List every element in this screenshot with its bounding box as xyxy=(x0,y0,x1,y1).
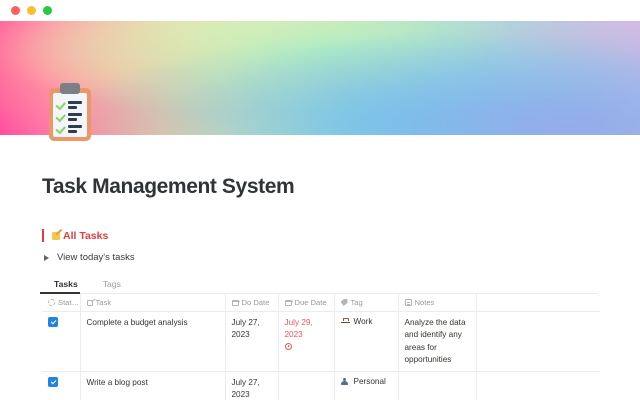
tab-tasks-label: Tasks xyxy=(54,279,78,289)
column-header-task[interactable]: Task xyxy=(80,294,225,312)
page-title[interactable]: Task Management System xyxy=(42,175,598,199)
view-tabs: Tasks Tags xyxy=(42,276,598,294)
notes-icon xyxy=(405,299,412,306)
section-heading: All Tasks xyxy=(42,229,598,242)
row-checkbox[interactable] xyxy=(48,317,58,327)
table-row[interactable]: Complete a budget analysis July 27, 2023… xyxy=(42,312,600,372)
table-row[interactable]: Write a blog post July 27, 2023 Personal xyxy=(42,372,600,400)
tab-tags-label: Tags xyxy=(103,279,121,289)
page-cover-banner[interactable] xyxy=(0,21,640,135)
column-header-due-date-label: Due Date xyxy=(295,298,327,307)
column-header-due-date[interactable]: Due Date xyxy=(278,294,334,312)
calendar-icon xyxy=(232,300,239,307)
app-window: Task Management System All Tasks View to… xyxy=(0,0,640,400)
person-icon xyxy=(341,378,350,386)
cell-do-date[interactable]: July 27, 2023 xyxy=(225,372,278,400)
cell-notes[interactable] xyxy=(398,372,476,400)
cell-task[interactable]: Complete a budget analysis xyxy=(80,312,225,372)
maximize-window-button[interactable] xyxy=(43,6,52,15)
column-header-notes[interactable]: Notes xyxy=(398,294,476,312)
table-header-row: Stat… Task Do Date Due Date xyxy=(42,294,600,312)
column-header-task-label: Task xyxy=(96,298,112,307)
cell-due-date[interactable]: July 29, 2023 xyxy=(278,312,334,372)
cell-task[interactable]: Write a blog post xyxy=(80,372,225,400)
column-header-tag-label: Tag xyxy=(351,298,363,307)
cell-tag[interactable]: Work xyxy=(334,312,398,372)
tasks-table: Stat… Task Do Date Due Date xyxy=(42,294,600,400)
column-header-notes-label: Notes xyxy=(415,298,435,307)
column-header-tag[interactable]: Tag xyxy=(334,294,398,312)
tab-tags[interactable]: Tags xyxy=(91,279,121,293)
window-titlebar xyxy=(0,0,640,21)
briefcase-icon xyxy=(341,318,350,326)
alarm-clock-icon xyxy=(285,343,292,350)
tag-icon xyxy=(91,280,99,289)
calendar-icon xyxy=(285,300,292,307)
spinner-icon xyxy=(48,299,55,306)
table-body: Complete a budget analysis July 27, 2023… xyxy=(42,312,600,400)
cell-do-date[interactable]: July 27, 2023 xyxy=(225,312,278,372)
red-accent-bar xyxy=(42,229,44,242)
cell-status[interactable] xyxy=(42,372,80,400)
tag-icon xyxy=(341,299,348,306)
row-checkbox[interactable] xyxy=(48,377,58,387)
cell-empty[interactable] xyxy=(476,312,600,372)
tag-label: Work xyxy=(354,317,373,326)
document-icon xyxy=(42,280,50,289)
cell-status[interactable] xyxy=(42,312,80,372)
toggle-view-todays-tasks[interactable]: View today's tasks xyxy=(42,252,598,263)
column-header-do-date-label: Do Date xyxy=(242,298,270,307)
close-window-button[interactable] xyxy=(11,6,20,15)
column-header-do-date[interactable]: Do Date xyxy=(225,294,278,312)
due-date-value: July 29, 2023 xyxy=(285,318,313,339)
column-header-add[interactable] xyxy=(476,294,600,312)
minimize-window-button[interactable] xyxy=(27,6,36,15)
triangle-right-icon[interactable] xyxy=(44,255,49,261)
tab-tasks[interactable]: Tasks xyxy=(42,279,78,293)
memo-icon xyxy=(52,231,62,240)
pencil-icon xyxy=(87,300,93,306)
cell-empty[interactable] xyxy=(476,372,600,400)
column-header-status-label: Stat… xyxy=(58,298,79,307)
clipboard-icon[interactable] xyxy=(47,83,93,141)
tag-label: Personal xyxy=(354,377,386,386)
toggle-label: View today's tasks xyxy=(57,252,135,263)
cell-tag[interactable]: Personal xyxy=(334,372,398,400)
column-header-status[interactable]: Stat… xyxy=(42,294,80,312)
cell-notes[interactable]: Analyze the data and identify any areas … xyxy=(398,312,476,372)
cell-due-date[interactable] xyxy=(278,372,334,400)
section-title[interactable]: All Tasks xyxy=(63,230,108,242)
